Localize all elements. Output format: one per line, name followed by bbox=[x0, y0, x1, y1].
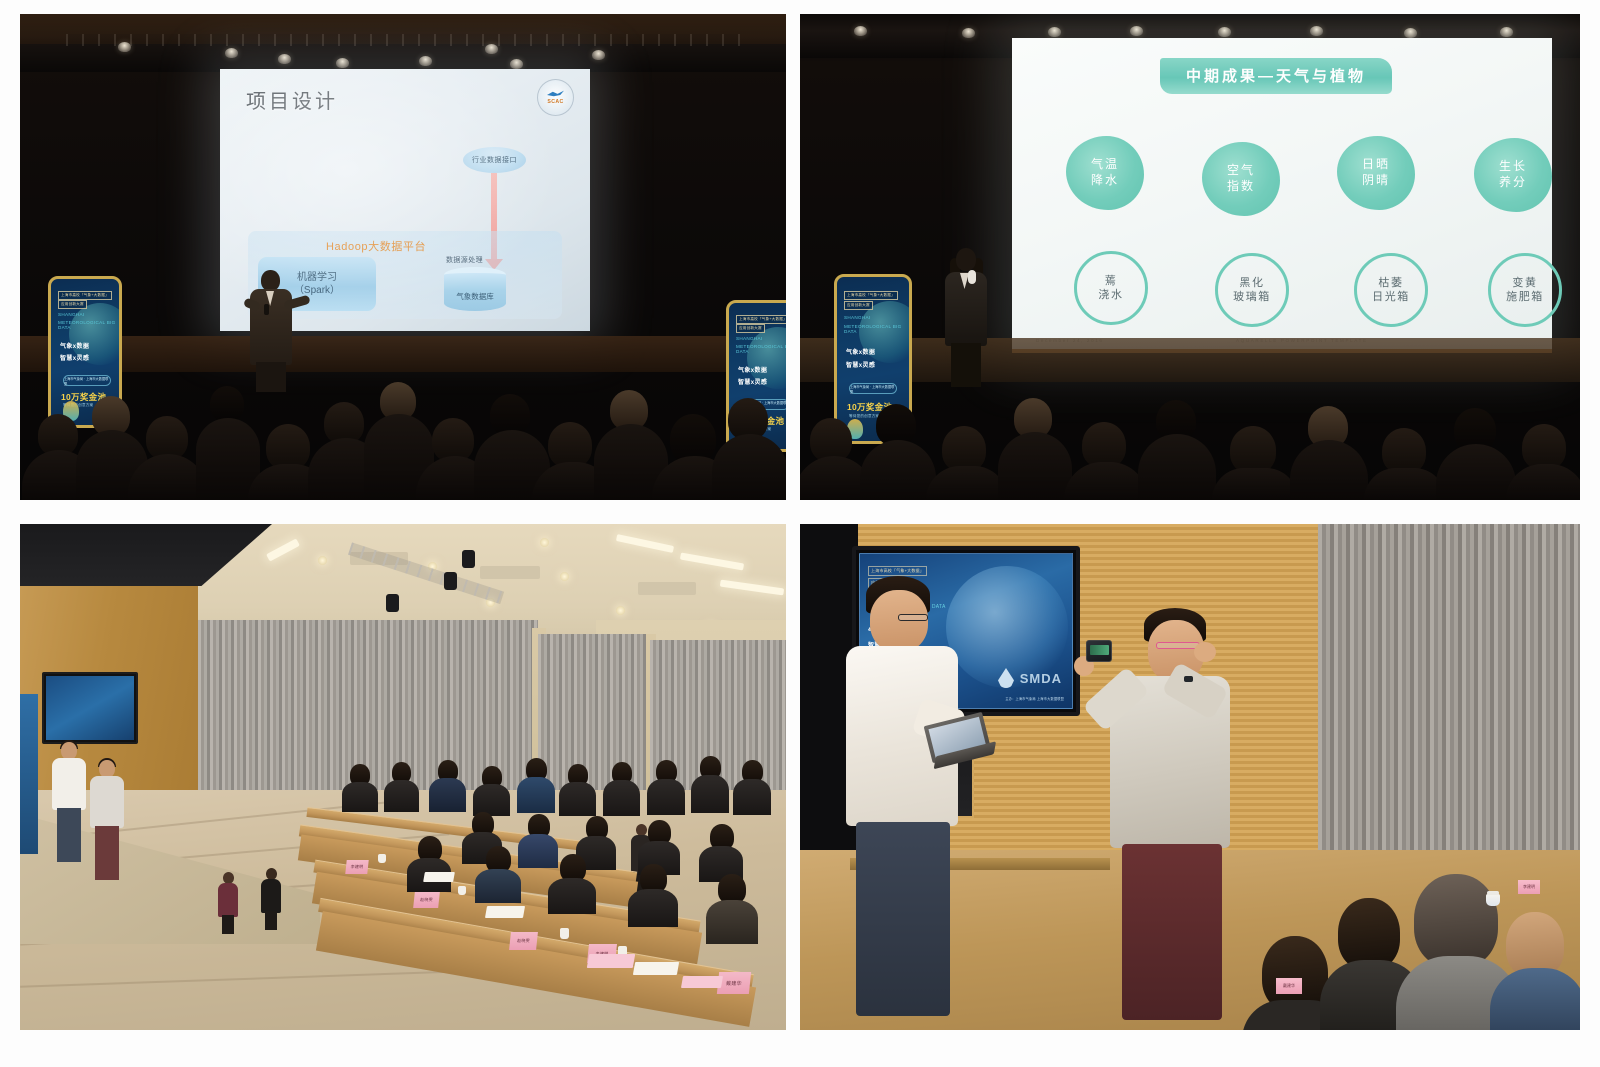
seated-attendee-body bbox=[647, 779, 685, 815]
ring-line-1: 枯萎 bbox=[1378, 276, 1403, 290]
banner-slogan-1: 气象x数据 bbox=[846, 347, 875, 356]
document-paper-pink bbox=[587, 954, 635, 968]
photo-panel-auditorium-female-presenter: 中期成果—天气与植物 气温 降水 空气 指数 日晒 阴晴 生长 养分 蔫 浇水 bbox=[800, 14, 1580, 500]
scac-logo-text: SCAC bbox=[547, 99, 563, 105]
drinking-cup bbox=[458, 886, 466, 895]
wristwatch-icon bbox=[1184, 676, 1193, 682]
presenter-legs bbox=[1122, 844, 1222, 1020]
banner-slogan-2: 智慧x灵感 bbox=[846, 360, 875, 369]
presenter-legs bbox=[951, 343, 981, 387]
blob-line-1: 气温 bbox=[1091, 157, 1119, 173]
display-credit-1: 主办：上海市气象局 上海市大数据联盟 bbox=[1005, 697, 1064, 702]
banner-tag-line-1: 上海市高校「气象+大数据」 bbox=[736, 315, 786, 324]
ring-line-2: 玻璃箱 bbox=[1233, 290, 1271, 304]
seated-attendee-body bbox=[603, 780, 640, 816]
slide-1-processing-label: 数据源处理 bbox=[446, 255, 483, 265]
ceiling-light-strip bbox=[680, 552, 744, 570]
smda-logo-text: SMDA bbox=[1020, 671, 1062, 686]
banner-slogan-1: 气象x数据 bbox=[60, 341, 89, 350]
seated-attendee-body bbox=[517, 777, 555, 813]
tea-cup bbox=[1486, 894, 1500, 906]
photo-panel-auditorium-male-presenter: 项目设计 SCAC 行业数据接口 Hadoop大数据平台 机器学习 （Spark… bbox=[20, 14, 786, 500]
microphone-icon bbox=[264, 304, 269, 315]
banner-english-2: METEOROLOGICAL BIG DATA bbox=[844, 324, 909, 334]
audience-shoulders bbox=[1212, 468, 1298, 500]
cup-lid bbox=[1487, 891, 1499, 895]
spotlight-icon bbox=[386, 594, 399, 612]
slide-1-title: 项目设计 bbox=[246, 85, 338, 114]
banner-slogan-2: 智慧x灵感 bbox=[60, 353, 89, 362]
name-placard: 李建明 bbox=[1518, 880, 1540, 894]
stage-lamp-icon bbox=[854, 26, 867, 36]
wall-display bbox=[42, 672, 138, 744]
stage-lamp-icon bbox=[1310, 26, 1323, 36]
ceiling-acoustic-panel bbox=[638, 582, 696, 595]
blob-line-1: 空气 bbox=[1227, 163, 1255, 179]
stage-lamp-icon bbox=[1500, 27, 1513, 37]
ring-line-2: 浇水 bbox=[1098, 288, 1123, 302]
banner-english-1: SHANGHAI bbox=[736, 336, 762, 341]
stage-floor bbox=[800, 338, 1580, 382]
seated-attendee-body bbox=[548, 878, 596, 914]
presenter-white-sweater bbox=[842, 576, 972, 1016]
standing-attendee bbox=[260, 868, 282, 930]
stage-lamp-icon bbox=[592, 50, 605, 60]
spotlight-icon bbox=[444, 572, 457, 590]
seated-attendee-body bbox=[384, 780, 419, 812]
presenter-legs bbox=[95, 826, 119, 880]
slide-2-title: 中期成果—天气与植物 bbox=[1160, 65, 1392, 86]
photo-panel-conference-room-wide: 李建明 赵晓雯 赵晓雯 李建明 戴建华 bbox=[20, 524, 786, 1030]
blob-line-1: 生长 bbox=[1499, 159, 1527, 175]
drinking-cup bbox=[378, 854, 386, 863]
ceiling-downlight-icon bbox=[616, 606, 625, 615]
name-placard: 赵晓雯 bbox=[413, 892, 440, 908]
audience-shoulders bbox=[1064, 462, 1148, 500]
spotlight-icon bbox=[462, 550, 475, 568]
banner-tag-line-2: 应用创新大赛 bbox=[58, 300, 87, 309]
stage-lamp-icon bbox=[118, 42, 131, 52]
seated-attendee-body bbox=[342, 782, 378, 812]
stage-lamp-icon bbox=[962, 28, 975, 38]
seated-attendee-body bbox=[518, 834, 558, 868]
presenter-head bbox=[956, 248, 976, 271]
banner-tag-line-1: 上海市高校「气象+大数据」 bbox=[58, 291, 112, 300]
standing-attendee bbox=[217, 872, 239, 934]
name-placard: 李建明 bbox=[345, 860, 368, 874]
seated-attendee-body bbox=[733, 779, 771, 815]
presenter-head bbox=[261, 270, 280, 291]
name-placard: 戴建华 bbox=[1276, 978, 1302, 994]
audience-head bbox=[1230, 426, 1276, 474]
document-paper bbox=[633, 962, 679, 975]
slide-2-blob: 日晒 阴晴 bbox=[1337, 136, 1415, 210]
attendee-body bbox=[218, 883, 238, 917]
audience-shoulders bbox=[1290, 440, 1368, 500]
stage-floor bbox=[20, 336, 786, 372]
banner-tag-line-2: 应用创新大赛 bbox=[736, 324, 765, 333]
glasses-icon bbox=[898, 614, 928, 621]
ceiling-light-strip bbox=[616, 534, 674, 553]
audience-shoulders bbox=[926, 466, 1008, 500]
audience-shoulders bbox=[1138, 434, 1216, 500]
ceiling-downlight-icon bbox=[540, 538, 549, 547]
document-paper-pink bbox=[681, 976, 723, 988]
presenter-grey-sweater bbox=[90, 760, 124, 880]
audience-shoulders bbox=[1436, 444, 1516, 500]
slide-2-ring: 蔫 浇水 bbox=[1074, 251, 1148, 325]
audience-shoulders bbox=[998, 432, 1072, 500]
slide-2-blob: 气温 降水 bbox=[1066, 136, 1144, 210]
blob-line-2: 降水 bbox=[1091, 173, 1119, 189]
stage-lamp-icon bbox=[1218, 27, 1231, 37]
presenter-body bbox=[90, 776, 124, 828]
ceiling-light-strip bbox=[266, 538, 300, 561]
display-content bbox=[46, 676, 134, 740]
slide-2-ring: 枯萎 日光箱 bbox=[1354, 253, 1428, 327]
seated-attendee-body bbox=[559, 782, 596, 816]
audience-shoulders bbox=[860, 440, 936, 500]
presenter-grey-sweater bbox=[1100, 608, 1240, 1018]
stage-lamp-icon bbox=[1130, 26, 1143, 36]
glasses-icon bbox=[1156, 642, 1200, 649]
audience-shoulders bbox=[1506, 464, 1580, 500]
ceiling-downlight-icon bbox=[318, 556, 327, 565]
handheld-sensor-device bbox=[1086, 640, 1112, 662]
audience-head-grey-hair bbox=[1414, 874, 1498, 968]
stage-lamp-icon bbox=[510, 59, 523, 69]
presenter-head bbox=[870, 590, 928, 652]
ring-line-1: 黑化 bbox=[1239, 276, 1264, 290]
side-display-panel bbox=[20, 694, 38, 854]
audience-silhouettes bbox=[20, 368, 786, 500]
photo-collage: 项目设计 SCAC 行业数据接口 Hadoop大数据平台 机器学习 （Spark… bbox=[0, 0, 1600, 1067]
projection-screen-2: 中期成果—天气与植物 气温 降水 空气 指数 日晒 阴晴 生长 养分 蔫 浇水 bbox=[1012, 38, 1552, 353]
stage-lighting-rig bbox=[20, 14, 786, 72]
photo-panel-two-men-demo: 上海市高校「气象+大数据」 应用创新大赛 SHANGHAI METEOROLOG… bbox=[800, 524, 1580, 1030]
audience-shoulders bbox=[712, 434, 786, 500]
blob-line-2: 阴晴 bbox=[1362, 173, 1390, 189]
slide-1-node-database: 气象数据库 bbox=[444, 267, 506, 311]
banner-tag-line-2: 应用创新大赛 bbox=[844, 301, 873, 310]
ml-line-1: 机器学习 bbox=[297, 271, 337, 285]
blob-line-2: 指数 bbox=[1227, 179, 1255, 195]
presenter-body bbox=[52, 758, 86, 810]
stage-lamp-icon bbox=[1048, 27, 1061, 37]
slide-1-node-api: 行业数据接口 bbox=[463, 147, 526, 173]
slide-2-ring: 变黄 施肥箱 bbox=[1488, 253, 1562, 327]
stage-lamp-icon bbox=[278, 54, 291, 64]
audience-head bbox=[210, 386, 244, 422]
ring-line-1: 蔫 bbox=[1105, 274, 1118, 288]
attendee-legs bbox=[222, 915, 234, 934]
banner-tag-line-1: 上海市高校「气象+大数据」 bbox=[844, 291, 898, 300]
stage-lamp-icon bbox=[336, 58, 349, 68]
seated-attendee-body bbox=[429, 778, 466, 812]
device-screen bbox=[1090, 645, 1109, 655]
document-paper bbox=[423, 872, 455, 882]
presenter-white-sweater bbox=[52, 742, 86, 862]
banner-english-1: SHANGHAI bbox=[58, 312, 84, 317]
microphone-icon bbox=[968, 270, 976, 284]
seated-attendee-body bbox=[475, 869, 521, 903]
slide-2-ring: 黑化 玻璃箱 bbox=[1215, 253, 1289, 327]
bird-icon bbox=[547, 90, 564, 98]
stage-lamp-icon bbox=[485, 44, 498, 54]
ceiling-acoustic-panel bbox=[480, 566, 540, 579]
foreground-audience: 戴建华 李建明 bbox=[1250, 840, 1580, 1030]
presenter-legs bbox=[57, 808, 81, 862]
document-paper bbox=[485, 906, 525, 918]
attendee-body bbox=[261, 879, 281, 913]
audience-shoulders bbox=[1490, 968, 1580, 1030]
slide-2-blob: 空气 指数 bbox=[1202, 142, 1280, 216]
slide-2-blob: 生长 养分 bbox=[1474, 138, 1552, 212]
dark-ceiling-section bbox=[20, 524, 272, 586]
ring-line-2: 日光箱 bbox=[1372, 290, 1410, 304]
ring-line-2: 施肥箱 bbox=[1506, 290, 1544, 304]
audience-silhouettes bbox=[800, 382, 1580, 500]
seated-attendee-body bbox=[473, 784, 510, 816]
ceiling-downlight-icon bbox=[560, 572, 569, 581]
ring-line-1: 变黄 bbox=[1512, 276, 1537, 290]
stage-lamp-icon bbox=[225, 48, 238, 58]
seated-attendee-body bbox=[628, 889, 678, 927]
display-tag-line-1: 上海市高校「气象+大数据」 bbox=[868, 566, 927, 576]
ceiling-light-strip bbox=[720, 580, 784, 596]
presenter-hand-right bbox=[1194, 642, 1216, 662]
attendee-legs bbox=[265, 911, 277, 930]
audience-shoulders bbox=[1364, 468, 1446, 500]
name-placard: 赵晓雯 bbox=[509, 932, 538, 950]
blob-line-2: 养分 bbox=[1499, 175, 1527, 191]
blob-line-1: 日晒 bbox=[1362, 157, 1390, 173]
stage-lamp-icon bbox=[1404, 28, 1417, 38]
banner-english-2: METEOROLOGICAL BIG DATA bbox=[58, 320, 119, 330]
banner-english-2: METEOROLOGICAL BIG DATA bbox=[736, 344, 786, 354]
seated-attendee-body bbox=[706, 900, 758, 944]
banner-english-1: SHANGHAI bbox=[844, 315, 870, 320]
drinking-cup bbox=[560, 928, 569, 939]
presenter-female-blazer bbox=[942, 248, 990, 388]
slide-2-title-brush: 中期成果—天气与植物 bbox=[1160, 58, 1392, 94]
slide-1-platform-label: Hadoop大数据平台 bbox=[326, 238, 426, 254]
presenter-legs bbox=[856, 822, 950, 1016]
truss-beam bbox=[66, 34, 740, 46]
seated-attendee-body bbox=[691, 775, 729, 813]
scac-logo: SCAC bbox=[537, 79, 574, 116]
stage-lamp-icon bbox=[419, 56, 432, 66]
